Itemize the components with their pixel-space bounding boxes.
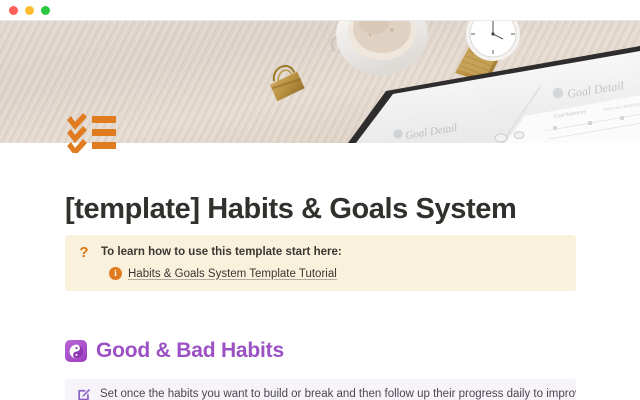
maximize-button[interactable]: [41, 6, 50, 15]
close-button[interactable]: [9, 6, 18, 15]
habits-description-text: Set once the habits you want to build or…: [100, 387, 576, 400]
edit-square-glyph: [77, 388, 91, 400]
info-circle-icon: i: [109, 267, 122, 280]
section-title: Good & Bad Habits: [96, 339, 284, 363]
edit-square-icon: [77, 388, 91, 400]
info-callout-text: To learn how to use this template start …: [101, 245, 564, 260]
info-callout[interactable]: ? To learn how to use this template star…: [65, 235, 576, 291]
traffic-light-group: [9, 6, 50, 15]
habits-description-callout[interactable]: Set once the habits you want to build or…: [65, 379, 576, 400]
page-icon[interactable]: [65, 113, 117, 153]
tutorial-link-row[interactable]: i Habits & Goals System Template Tutoria…: [101, 267, 564, 280]
section-heading-good-bad-habits[interactable]: Good & Bad Habits: [65, 339, 284, 363]
tutorial-link[interactable]: Habits & Goals System Template Tutorial: [128, 268, 337, 280]
yin-yang-icon: [65, 340, 87, 362]
yin-yang-glyph: [69, 344, 84, 359]
page-title: [template] Habits & Goals System: [65, 193, 516, 226]
info-callout-body: To learn how to use this template start …: [101, 245, 564, 280]
checklist-icon: [65, 113, 117, 153]
minimize-button[interactable]: [25, 6, 34, 15]
app-window: Goal Detail Goal Summary Write your desi…: [0, 0, 640, 400]
question-mark-icon: ?: [77, 245, 91, 280]
window-titlebar: [0, 0, 640, 21]
